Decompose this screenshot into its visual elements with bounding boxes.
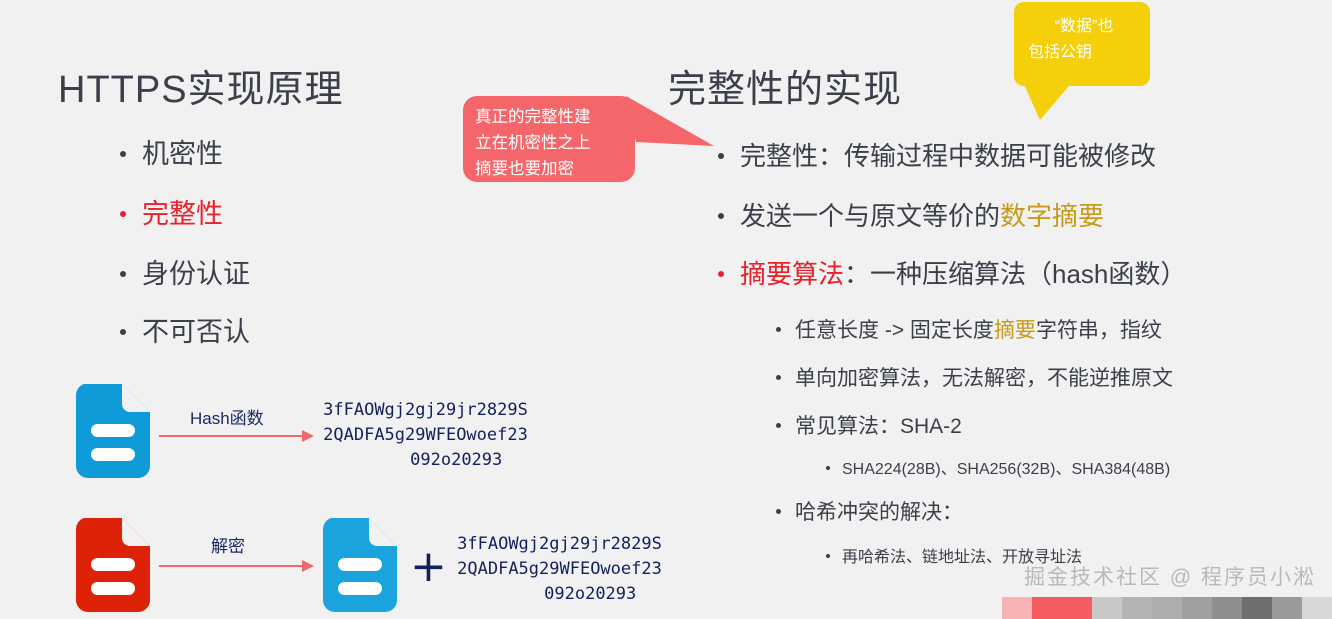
pink-callout-line-2: 立在机密性之上 xyxy=(475,130,625,156)
left-page-title: HTTPS实现原理 xyxy=(58,58,344,113)
pink-callout-tail-icon xyxy=(626,96,716,158)
left-bullet-1-label: 机密性 xyxy=(142,132,223,171)
right-bullet-2-label: 发送一个与原文等价的 xyxy=(740,196,1000,233)
pink-callout: 真正的完整性建 立在机密性之上 摘要也要加密 xyxy=(463,96,635,182)
yellow-callout: “数据”也 包括公钥 xyxy=(1014,2,1150,86)
bullet-dot-icon xyxy=(718,213,724,219)
swatch xyxy=(1122,597,1152,619)
plus-sign: + xyxy=(410,545,447,589)
swatch xyxy=(1062,597,1092,619)
left-bullet-2-label: 完整性 xyxy=(142,192,223,231)
bullet-dot-icon xyxy=(120,271,126,277)
right-sub-bullet-1-highlight: 摘要 xyxy=(994,314,1036,344)
red-document-icon xyxy=(76,518,150,612)
bullet-dot-icon xyxy=(120,151,126,157)
decrypt-arrow-icon xyxy=(159,558,314,574)
swatch xyxy=(1212,597,1242,619)
swatch xyxy=(1092,597,1122,619)
right-sub-bullet-2: 单向加密算法，无法解密，不能逆推原文 xyxy=(776,362,1173,392)
bullet-dot-icon xyxy=(826,466,830,470)
bullet-dot-icon xyxy=(120,211,126,217)
bullet-dot-icon xyxy=(826,554,830,558)
blue-document-icon xyxy=(323,518,397,612)
left-bullet-3-label: 身份认证 xyxy=(142,252,250,291)
bullet-dot-icon xyxy=(776,423,781,428)
left-bullet-2: 完整性 xyxy=(120,192,223,231)
right-bullet-1-label: 完整性：传输过程中数据可能被修改 xyxy=(740,136,1156,173)
right-sub-bullet-1-pre: 任意长度 -> 固定长度 xyxy=(795,314,994,344)
right-sub-bullet-3-detail: SHA224(28B)、SHA256(32B)、SHA384(48B) xyxy=(826,455,1170,479)
hash-output-row2: 3fFAOWgj2gj29jr2829S 2QADFA5g29WFEOwoef2… xyxy=(452,532,667,607)
bullet-dot-icon xyxy=(776,327,781,332)
yellow-callout-line-1: “数据”也 xyxy=(1028,14,1140,40)
hash-arrow-label: Hash函数 xyxy=(190,404,264,429)
right-bullet-3-label: ：一种压缩算法（hash函数） xyxy=(844,254,1186,291)
pink-callout-line-1: 真正的完整性建 xyxy=(475,104,625,130)
left-bullet-3: 身份认证 xyxy=(120,252,250,291)
right-bullet-2: 发送一个与原文等价的 数字摘要 xyxy=(718,196,1104,233)
hash-arrow-icon xyxy=(159,428,314,444)
left-bullet-1: 机密性 xyxy=(120,132,223,171)
bullet-dot-icon xyxy=(718,153,724,159)
bullet-dot-icon xyxy=(120,329,126,335)
swatch xyxy=(1272,597,1302,619)
right-bullet-3: 摘要算法 ：一种压缩算法（hash函数） xyxy=(718,254,1186,291)
blue-document-icon xyxy=(76,384,150,478)
yellow-callout-line-2: 包括公钥 xyxy=(1028,40,1140,66)
swatch xyxy=(1032,597,1062,619)
right-bullet-1: 完整性：传输过程中数据可能被修改 xyxy=(718,136,1156,173)
right-sub-bullet-3: 常见算法：SHA-2 xyxy=(776,410,962,440)
right-bullet-2-highlight: 数字摘要 xyxy=(1000,196,1104,233)
left-bullet-4: 不可否认 xyxy=(120,310,250,349)
color-swatch-strip xyxy=(1002,597,1332,619)
right-sub-bullet-3-label: 常见算法：SHA-2 xyxy=(795,410,962,440)
slide-canvas: HTTPS实现原理 机密性 完整性 身份认证 不可否认 真正的完整性建 立在机密… xyxy=(0,0,1332,619)
swatch xyxy=(1152,597,1182,619)
right-sub-bullet-1: 任意长度 -> 固定长度 摘要 字符串，指纹 xyxy=(776,314,1162,344)
swatch xyxy=(1242,597,1272,619)
pink-callout-line-3: 摘要也要加密 xyxy=(475,156,625,182)
yellow-callout-tail-icon xyxy=(1022,80,1082,122)
bullet-dot-icon xyxy=(718,271,724,277)
watermark-text: 掘金技术社区 @ 程序员小淞 xyxy=(1024,561,1316,591)
right-sub-bullet-4: 哈希冲突的解决： xyxy=(776,496,963,526)
right-sub-bullet-1-post: 字符串，指纹 xyxy=(1036,314,1162,344)
left-bullet-4-label: 不可否认 xyxy=(142,310,250,349)
right-bullet-3-highlight: 摘要算法 xyxy=(740,254,844,291)
decrypt-arrow-label: 解密 xyxy=(211,532,245,557)
hash-output-row1: 3fFAOWgj2gj29jr2829S 2QADFA5g29WFEOwoef2… xyxy=(318,398,533,473)
right-sub-bullet-4-label: 哈希冲突的解决： xyxy=(795,496,963,526)
bullet-dot-icon xyxy=(776,509,781,514)
bullet-dot-icon xyxy=(776,375,781,380)
swatch xyxy=(1182,597,1212,619)
swatch xyxy=(1302,597,1332,619)
right-sub-bullet-3-detail-label: SHA224(28B)、SHA256(32B)、SHA384(48B) xyxy=(842,455,1170,479)
swatch xyxy=(1002,597,1032,619)
right-sub-bullet-2-label: 单向加密算法，无法解密，不能逆推原文 xyxy=(795,362,1173,392)
